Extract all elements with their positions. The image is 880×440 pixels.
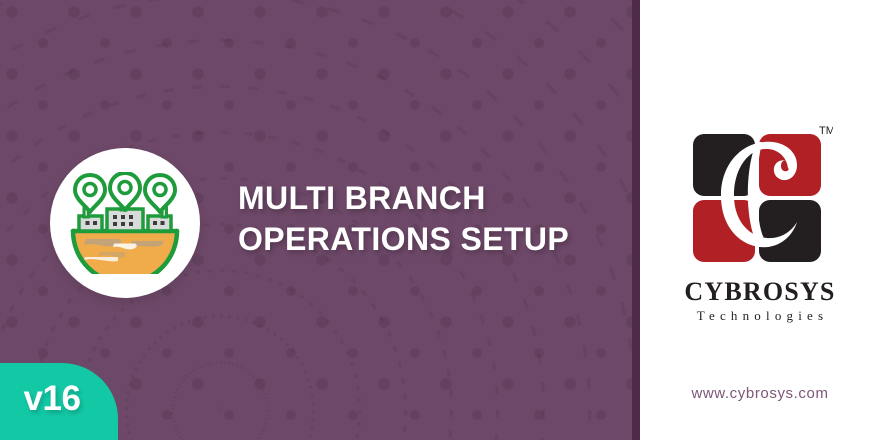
promo-banner: MULTI BRANCH OPERATIONS SETUP v16 TM xyxy=(0,0,880,440)
map-pin-left xyxy=(75,175,105,212)
map-pin-center xyxy=(110,173,140,210)
title-line-2: OPERATIONS SETUP xyxy=(238,219,618,260)
map-pin-right xyxy=(145,175,175,212)
cybrosys-logo-mark: TM xyxy=(687,120,833,268)
logo-squares-icon: TM xyxy=(687,120,833,268)
trademark-symbol: TM xyxy=(819,125,833,137)
banner-title: MULTI BRANCH OPERATIONS SETUP xyxy=(238,178,618,260)
website-url[interactable]: www.cybrosys.com xyxy=(640,385,880,402)
version-label: v16 xyxy=(0,379,104,419)
brand-subtitle: Technologies xyxy=(640,308,880,324)
icon-medallion xyxy=(50,148,200,298)
panel-divider-strip xyxy=(632,0,640,440)
multi-branch-globe-icon xyxy=(69,172,181,274)
right-white-panel: TM CYBROSYS Technologies www.cybrosys.co… xyxy=(640,0,880,440)
brand-name: CYBROSYS xyxy=(640,277,880,307)
title-line-1: MULTI BRANCH xyxy=(238,178,618,219)
cybrosys-logo-block: TM CYBROSYS Technologies xyxy=(640,120,880,324)
